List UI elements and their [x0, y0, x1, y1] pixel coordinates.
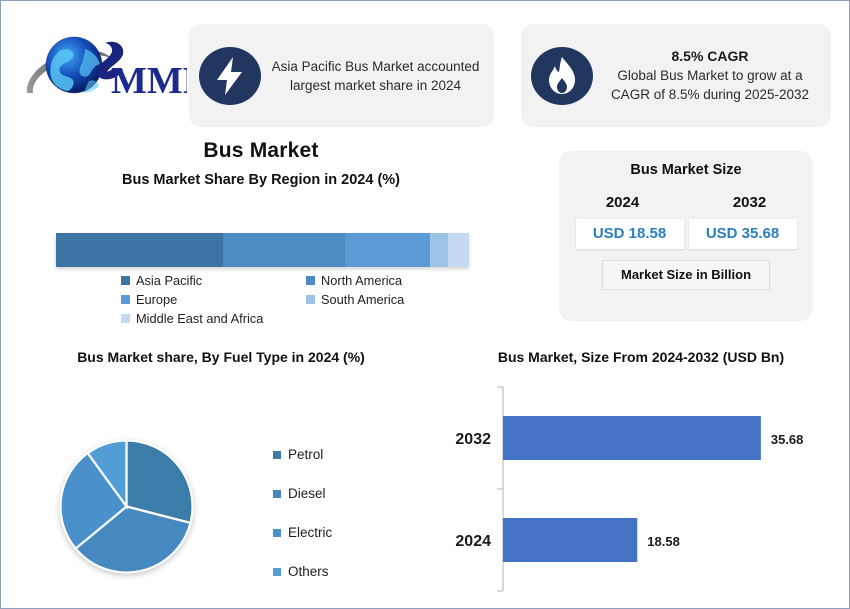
- region-legend: Asia Pacific North America Europe South …: [121, 271, 491, 328]
- region-share-stacked-bar: [56, 233, 469, 267]
- legend-label: Others: [288, 564, 329, 579]
- region-segment: [56, 233, 223, 267]
- callout-asia-pacific: Asia Pacific Bus Market accounted larges…: [189, 24, 494, 127]
- legend-label: Asia Pacific: [136, 273, 202, 288]
- market-size-value-2024: USD 18.58: [576, 219, 684, 249]
- legend-label: Electric: [288, 525, 332, 540]
- mmr-logo: MMR: [19, 21, 187, 107]
- data-label: 35.68: [771, 432, 804, 447]
- globe-orbit-icon: [27, 37, 111, 93]
- title-block: Bus Market Bus Market Share By Region in…: [1, 139, 521, 188]
- legend-label: Diesel: [288, 486, 326, 501]
- flame-icon: [531, 45, 593, 107]
- year-label-2032: 2032: [686, 194, 813, 211]
- legend-item-electric: Electric: [273, 513, 393, 552]
- region-segment: [448, 233, 469, 267]
- market-size-values: USD 18.58 USD 35.68: [559, 219, 813, 249]
- legend-marker: [273, 529, 281, 537]
- legend-label: South America: [321, 292, 404, 307]
- callout-cagr: 8.5% CAGR Global Bus Market to grow at a…: [521, 24, 831, 127]
- market-size-title: Bus Market Size: [559, 151, 813, 178]
- legend-item-south-america: South America: [306, 290, 491, 309]
- legend-label: North America: [321, 273, 402, 288]
- legend-item-north-america: North America: [306, 271, 491, 290]
- callout-text: Global Bus Market to grow at a CAGR of 8…: [599, 66, 821, 104]
- market-size-value-2032: USD 35.68: [689, 219, 797, 249]
- legend-marker: [306, 295, 315, 304]
- legend-marker: [121, 314, 130, 323]
- year-label-2024: 2024: [559, 194, 686, 211]
- callout-text: Asia Pacific Bus Market accounted larges…: [261, 57, 494, 95]
- market-size-bar-chart: 203235.68202418.58: [441, 379, 841, 601]
- region-segment: [223, 233, 345, 267]
- logo-wordmark: MMR: [111, 60, 187, 102]
- callout-heading: 8.5% CAGR: [599, 47, 821, 66]
- lightning-bolt-icon: [199, 45, 261, 107]
- legend-marker: [306, 276, 315, 285]
- data-label: 18.58: [647, 534, 680, 549]
- legend-item-europe: Europe: [121, 290, 306, 309]
- page-title: Bus Market: [1, 139, 521, 163]
- legend-item-diesel: Diesel: [273, 474, 393, 513]
- category-label: 2024: [455, 533, 491, 550]
- legend-item-middle-east-and-africa: Middle East and Africa: [121, 309, 491, 328]
- fuel-type-pie-chart: [59, 439, 194, 574]
- legend-item-others: Others: [273, 552, 393, 591]
- legend-marker: [273, 451, 281, 459]
- infographic-page: MMR Asia Pacific Bus Market accounted la…: [0, 0, 850, 609]
- legend-marker: [273, 490, 281, 498]
- region-segment: [430, 233, 449, 267]
- pie-chart-title: Bus Market share, By Fuel Type in 2024 (…: [21, 349, 421, 365]
- legend-label: Middle East and Africa: [136, 311, 263, 326]
- header: MMR Asia Pacific Bus Market accounted la…: [1, 1, 850, 137]
- legend-marker: [121, 295, 130, 304]
- legend-marker: [273, 568, 281, 576]
- market-size-panel: Bus Market Size 2024 2032 USD 18.58 USD …: [559, 151, 813, 321]
- market-size-unit-label: Market Size in Billion: [602, 260, 770, 290]
- legend-item-petrol: Petrol: [273, 435, 393, 474]
- legend-item-asia-pacific: Asia Pacific: [121, 271, 306, 290]
- size-bar-chart-title: Bus Market, Size From 2024-2032 (USD Bn): [441, 349, 841, 365]
- region-segment: [345, 233, 430, 267]
- legend-label: Europe: [136, 292, 177, 307]
- market-size-years: 2024 2032: [559, 194, 813, 211]
- bar: [503, 518, 637, 562]
- bar: [503, 416, 761, 460]
- legend-label: Petrol: [288, 447, 323, 462]
- pie-legend: Petrol Diesel Electric Others: [273, 435, 393, 591]
- category-label: 2032: [455, 431, 491, 448]
- legend-marker: [121, 276, 130, 285]
- page-subtitle: Bus Market Share By Region in 2024 (%): [1, 172, 521, 188]
